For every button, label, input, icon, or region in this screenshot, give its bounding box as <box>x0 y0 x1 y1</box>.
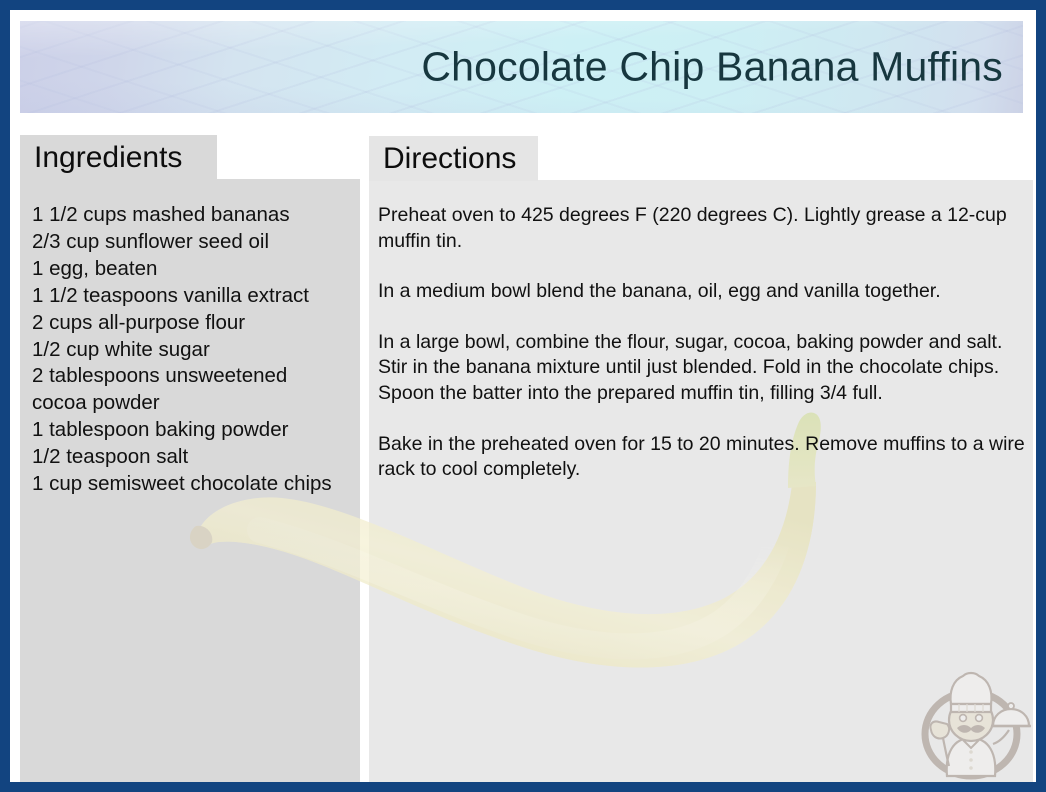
list-item: cocoa powder <box>32 390 362 417</box>
list-item: 1 tablespoon baking powder <box>32 417 362 444</box>
recipe-slide: Chocolate Chip Banana Muffins Ingredient… <box>0 0 1046 792</box>
direction-step: In a medium bowl blend the banana, oil, … <box>378 279 1033 305</box>
ingredients-section-tab: Ingredients <box>20 135 217 180</box>
list-item: 1/2 teaspoon salt <box>32 444 362 471</box>
list-item: 2 tablespoons unsweetened <box>32 363 362 390</box>
list-item: 1 1/2 teaspoons vanilla extract <box>32 283 362 310</box>
list-item: 2 cups all-purpose flour <box>32 310 362 337</box>
ingredients-list: 1 1/2 cups mashed bananas 2/3 cup sunflo… <box>32 202 362 498</box>
directions-heading: Directions <box>383 142 516 176</box>
slide-content-area: Chocolate Chip Banana Muffins Ingredient… <box>10 10 1036 782</box>
list-item: 1 egg, beaten <box>32 256 362 283</box>
page-title: Chocolate Chip Banana Muffins <box>421 44 1003 91</box>
direction-step: In a large bowl, combine the flour, suga… <box>378 330 1033 407</box>
direction-step: Preheat oven to 425 degrees F (220 degre… <box>378 203 1033 254</box>
ingredients-heading: Ingredients <box>34 141 182 175</box>
directions-steps: Preheat oven to 425 degrees F (220 degre… <box>378 203 1033 483</box>
list-item: 1/2 cup white sugar <box>32 337 362 364</box>
directions-section-tab: Directions <box>369 136 538 181</box>
direction-step: Bake in the preheated oven for 15 to 20 … <box>378 432 1033 483</box>
list-item: 2/3 cup sunflower seed oil <box>32 229 362 256</box>
list-item: 1 cup semisweet chocolate chips <box>32 471 362 498</box>
header-banner: Chocolate Chip Banana Muffins <box>20 21 1023 113</box>
list-item: 1 1/2 cups mashed bananas <box>32 202 362 229</box>
